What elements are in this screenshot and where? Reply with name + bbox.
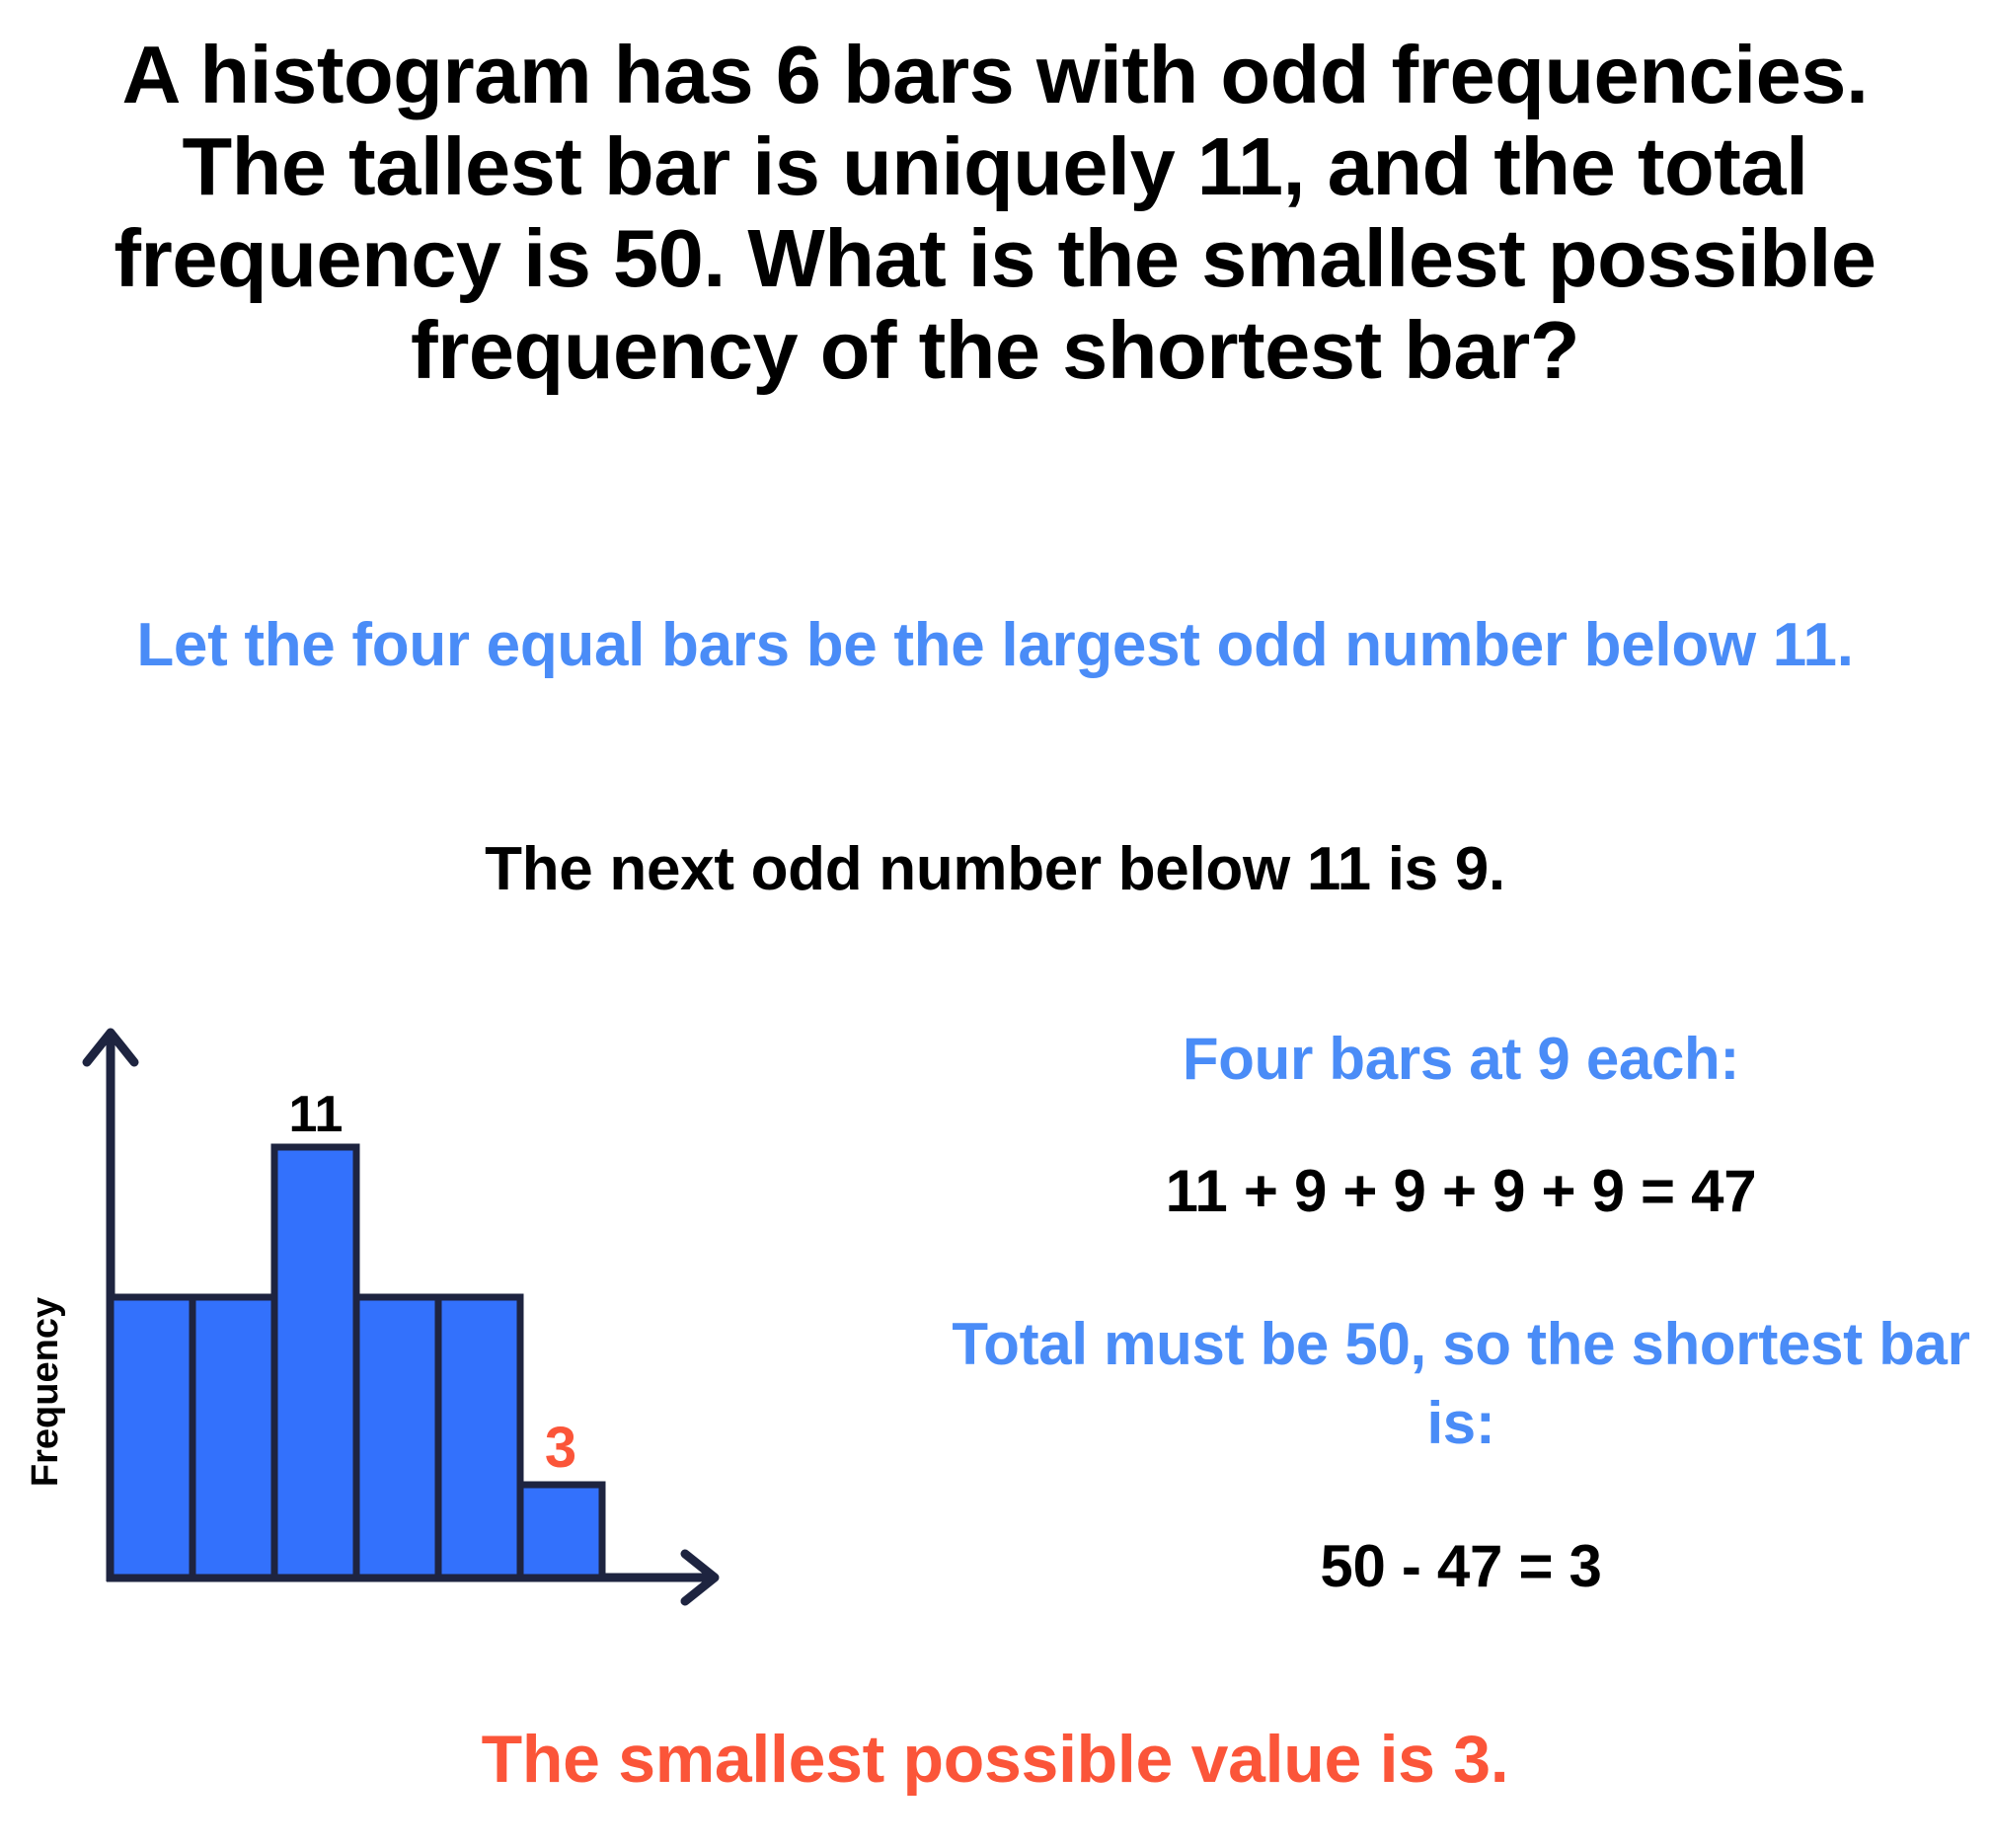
step-equation-sum: 11 + 9 + 9 + 9 + 9 = 47: [948, 1153, 1974, 1230]
histogram-svg: 11 3 Frequency: [0, 1007, 809, 1639]
bar-2: [192, 1297, 274, 1578]
step-hint-equal-bars: Let the four equal bars be the largest o…: [107, 605, 1883, 686]
worksheet-page: A histogram has 6 bars with odd frequenc…: [0, 0, 1990, 1848]
bar-1: [111, 1297, 192, 1578]
step-hint-four-bars: Four bars at 9 each:: [948, 1021, 1974, 1098]
bar-5: [438, 1297, 520, 1578]
bar-label-3: 3: [545, 1416, 576, 1480]
bar-4: [356, 1297, 438, 1578]
bar-6-shortest: [520, 1485, 602, 1578]
bar-group: [111, 1147, 602, 1578]
histogram-chart: 11 3 Frequency: [0, 1007, 809, 1639]
step-hint-total: Total must be 50, so the shortest bar is…: [948, 1305, 1974, 1463]
conclusion-text: The smallest possible value is 3.: [59, 1720, 1931, 1801]
step-equation-difference: 50 - 47 = 3: [948, 1528, 1974, 1605]
y-axis-label: Frequency: [25, 1297, 66, 1487]
page-title: A histogram has 6 bars with odd frequenc…: [59, 30, 1931, 397]
bar-3-tallest: [274, 1147, 356, 1578]
step-result-next-odd: The next odd number below 11 is 9.: [107, 829, 1883, 910]
bar-label-11: 11: [289, 1086, 344, 1143]
